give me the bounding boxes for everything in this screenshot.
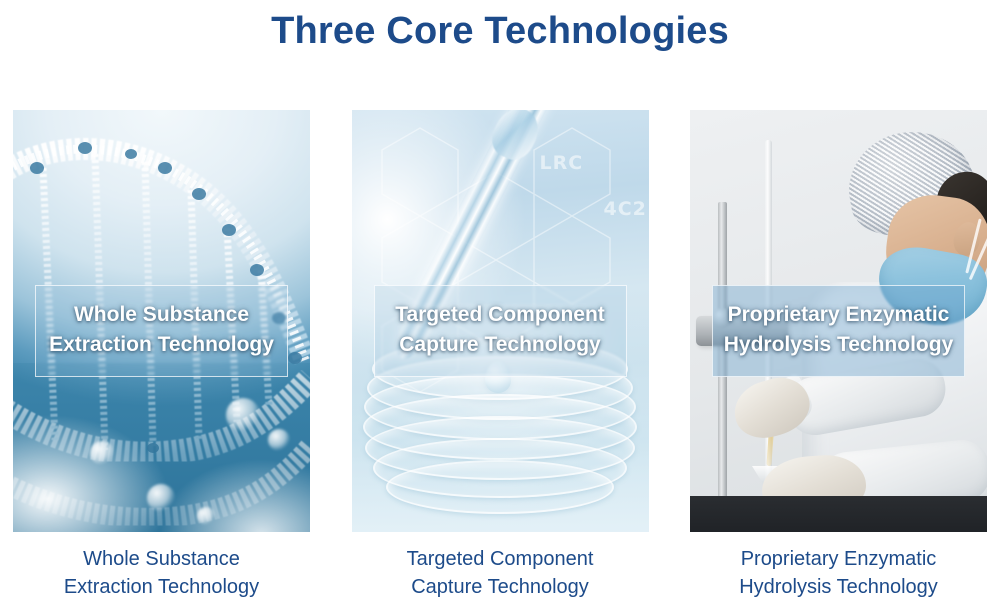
card-overlay-text: Proprietary Enzymatic Hydrolysis Technol… xyxy=(719,300,958,360)
card-overlay-text: Targeted Component Capture Technology xyxy=(381,300,620,360)
ripple-ring xyxy=(386,460,614,514)
technology-card-proprietary-enzymatic-hydrolysis[interactable]: Proprietary Enzymatic Hydrolysis Technol… xyxy=(690,110,987,532)
faint-mark-lrc: LRC xyxy=(540,152,584,174)
caption-targeted-component-capture: Targeted Component Capture Technology xyxy=(352,545,649,602)
card-overlay-label: Targeted Component Capture Technology xyxy=(374,285,627,377)
technology-card-whole-substance-extraction[interactable]: Whole Substance Extraction Technology xyxy=(13,110,310,532)
dna-bokeh-layer xyxy=(13,363,310,532)
captions-row: Whole Substance Extraction Technology Ta… xyxy=(13,545,987,602)
lab-counter xyxy=(690,496,987,532)
page-title: Three Core Technologies xyxy=(0,8,1000,56)
card-overlay-text: Whole Substance Extraction Technology xyxy=(42,300,281,360)
caption-proprietary-enzymatic-hydrolysis: Proprietary Enzymatic Hydrolysis Technol… xyxy=(690,545,987,602)
card-overlay-label: Whole Substance Extraction Technology xyxy=(35,285,288,377)
technology-cards-row: Whole Substance Extraction Technology LR… xyxy=(13,110,987,532)
card-overlay-label: Proprietary Enzymatic Hydrolysis Technol… xyxy=(712,285,965,377)
technology-card-targeted-component-capture[interactable]: LRC 4C2 Targeted Component Capture Techn… xyxy=(352,110,649,532)
faint-mark-4c2: 4C2 xyxy=(604,198,647,220)
caption-whole-substance-extraction: Whole Substance Extraction Technology xyxy=(13,545,310,602)
